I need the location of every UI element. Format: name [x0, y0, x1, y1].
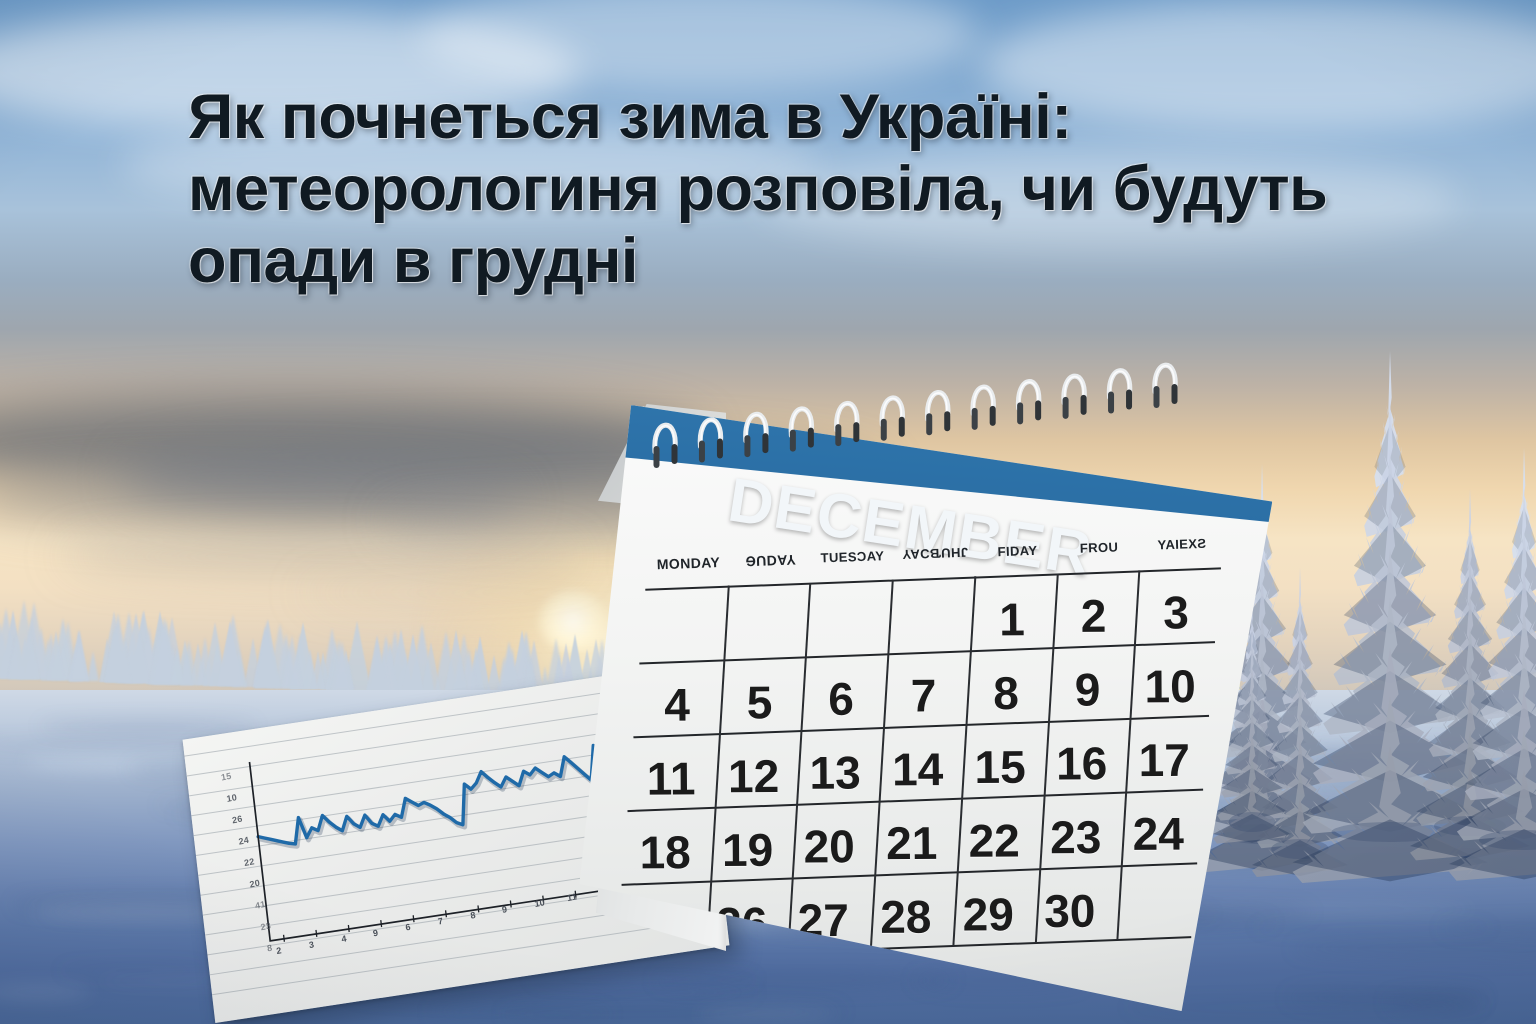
conifer-tree [217, 618, 243, 686]
calendar-date-cell[interactable]: 24 [1122, 808, 1194, 861]
conifer-tree [366, 632, 388, 691]
calendar-day-header: ƏUDAY [728, 551, 813, 570]
calendar-day-header: SXƎIAY [1139, 536, 1223, 554]
chart-y-tick-label: 20 [249, 878, 261, 890]
calendar-date-cell[interactable]: 2 [1058, 590, 1130, 643]
calendar-date-cell[interactable]: 28 [870, 891, 942, 944]
chart-y-tick-label: 26 [232, 813, 244, 825]
chart-y-tick-label: 8 [266, 943, 273, 954]
chart-x-tick [284, 935, 285, 942]
calendar-date-cell[interactable]: 10 [1134, 660, 1206, 713]
snow-streak [1388, 996, 1480, 1008]
calendar-date-cell[interactable]: 5 [723, 676, 795, 729]
conifer-tree [498, 638, 520, 696]
calendar-date-cell[interactable]: 16 [1046, 737, 1118, 790]
snow-streak [1463, 804, 1536, 821]
spiral-ring-icon [972, 387, 996, 430]
spiral-binding-icon [596, 348, 1296, 498]
snow-streak [430, 1002, 842, 1022]
calendar-date-cell[interactable]: 23 [1040, 811, 1112, 864]
spiral-ring-icon [744, 414, 768, 457]
spiral-ring-icon [1017, 382, 1041, 425]
spiral-ring-icon [1154, 365, 1178, 408]
chart-x-tick [478, 905, 479, 912]
snow-streak [503, 1010, 610, 1019]
conifer-tree [9, 597, 39, 679]
conifer-tree [255, 616, 281, 688]
conifer-tree [69, 627, 89, 681]
conifer-tree [444, 627, 468, 694]
desk-calendar: DECEMBER MONDAYƏUDAYTUESƆAYЈHUƁƆAYFIDAYF… [596, 348, 1296, 978]
snow-streak [1441, 922, 1536, 935]
calendar-date-cell[interactable]: 1 [976, 593, 1048, 646]
chart-y-tick-label: 15 [220, 771, 232, 783]
snow-streak [1288, 989, 1484, 1006]
calendar-date-cell[interactable]: 14 [881, 743, 953, 796]
spiral-ring-icon [699, 420, 723, 463]
calendar-date-cell[interactable]: 7 [887, 669, 959, 722]
snow-streak [696, 1009, 837, 1020]
conifer-tree [402, 631, 424, 693]
spiral-ring-icon [835, 403, 859, 446]
calendar-date-cell[interactable]: 18 [629, 826, 701, 879]
conifer-tree [333, 638, 351, 690]
spiral-ring-icon [1108, 371, 1132, 414]
chart-x-tick [446, 910, 447, 917]
chart-x-tick-label: 3 [308, 939, 315, 950]
chart-x-tick [413, 915, 414, 922]
calendar-date-cell[interactable]: 3 [1140, 587, 1212, 640]
conifer-tree [170, 645, 184, 684]
chart-y-tick-label: 23 [260, 920, 272, 932]
calendar-day-header: FROU [1057, 539, 1141, 557]
chart-x-tick [316, 930, 317, 937]
conifer-tree [105, 610, 131, 682]
conifer-tree [311, 648, 325, 689]
conifer-tree [282, 632, 302, 688]
calendar-date-cell[interactable]: 11 [635, 752, 707, 805]
calendar-date-cell[interactable]: 6 [805, 673, 877, 726]
snow-streak [1420, 774, 1517, 793]
calendar-date-cell[interactable]: 20 [793, 820, 865, 873]
calendar-day-header: FIDAY [975, 542, 1059, 560]
chart-x-tick-label: 4 [340, 933, 347, 944]
spiral-ring-icon [654, 425, 678, 468]
conifer-tree [47, 628, 65, 680]
chart-y-tick-label: 24 [237, 835, 249, 847]
snow-streak [1474, 735, 1536, 745]
calendar-day-header: MONDAY [646, 554, 731, 573]
calendar-date-cell[interactable]: 21 [876, 817, 948, 870]
chart-y-tick-label: 41 [254, 899, 266, 911]
calendar-date-cell[interactable]: 4 [641, 679, 713, 732]
snow-streak [1293, 939, 1536, 958]
calendar-date-cell[interactable]: 15 [964, 740, 1036, 793]
spiral-ring-icon [790, 409, 814, 452]
page-title: Як почнеться зима в Україні: метеорологи… [188, 82, 1368, 297]
chart-x-tick [510, 901, 511, 908]
calendar-date-cell[interactable]: 12 [717, 749, 789, 802]
calendar-date-cell[interactable]: 13 [799, 746, 871, 799]
calendar-day-header: TUESƆAY [811, 548, 895, 566]
chart-x-tick [348, 925, 349, 932]
calendar-date-cell[interactable]: 8 [970, 666, 1042, 719]
chart-x-tick [381, 920, 382, 927]
chart-x-tick-label: 11 [566, 891, 577, 903]
snow-streak [1388, 703, 1536, 709]
spiral-ring-icon [881, 398, 905, 441]
calendar-date-cell[interactable]: 9 [1052, 663, 1124, 716]
calendar-date-cell[interactable]: 29 [952, 888, 1024, 941]
snow-streak [0, 984, 92, 1000]
snow-streak [1453, 808, 1536, 827]
calendar-date-cell[interactable]: 30 [1034, 885, 1106, 938]
spiral-ring-icon [926, 392, 950, 435]
snow-streak [39, 720, 257, 732]
chart-y-tick-label: 22 [243, 856, 255, 868]
snow-streak [59, 966, 210, 975]
calendar-date-cell[interactable]: 19 [711, 823, 783, 876]
chart-y-tick-label: 10 [226, 792, 238, 804]
calendar-date-cell[interactable]: 27 [787, 894, 859, 947]
spiral-ring-icon [1063, 376, 1087, 419]
snow-streak [1297, 745, 1530, 764]
chart-x-tick-label: 10 [534, 897, 546, 909]
calendar-day-header: ЈHUƁƆAY [893, 545, 977, 563]
chart-x-tick-label: 8 [469, 910, 476, 921]
calendar-grid-line [645, 567, 1221, 590]
calendar-date-cell[interactable]: 17 [1128, 734, 1200, 787]
hero-image: Як почнеться зима в Україні: метеорологи… [0, 0, 1536, 1024]
calendar-date-cell[interactable]: 22 [958, 814, 1030, 867]
